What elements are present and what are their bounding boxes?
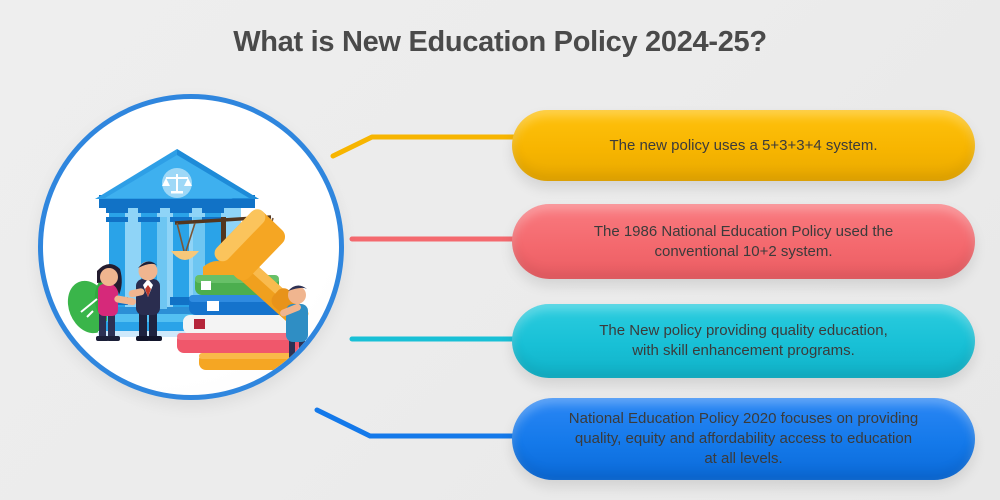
callout-pill-1[interactable]: The new policy uses a 5+3+3+4 system. xyxy=(512,110,975,181)
callout-pill-2[interactable]: The 1986 National Education Policy used … xyxy=(512,204,975,279)
law-education-illustration xyxy=(43,99,339,395)
illustration-circle-ring xyxy=(38,94,344,400)
callout-text-1: The new policy uses a 5+3+3+4 system. xyxy=(538,136,949,156)
infographic-canvas: What is New Education Policy 2024-25? xyxy=(0,0,1000,500)
callout-text-2: The 1986 National Education Policy used … xyxy=(538,222,949,262)
connector-line-4 xyxy=(317,410,515,436)
page-title: What is New Education Policy 2024-25? xyxy=(0,26,1000,59)
callout-text-4: National Education Policy 2020 focuses o… xyxy=(538,409,949,469)
connector-line-1 xyxy=(333,137,515,156)
illustration-circle xyxy=(38,94,344,400)
scales-of-justice-emblem xyxy=(162,168,192,198)
callout-pill-3[interactable]: The New policy providing quality educati… xyxy=(512,304,975,378)
callout-text-3: The New policy providing quality educati… xyxy=(538,321,949,361)
callout-pill-4[interactable]: National Education Policy 2020 focuses o… xyxy=(512,398,975,480)
